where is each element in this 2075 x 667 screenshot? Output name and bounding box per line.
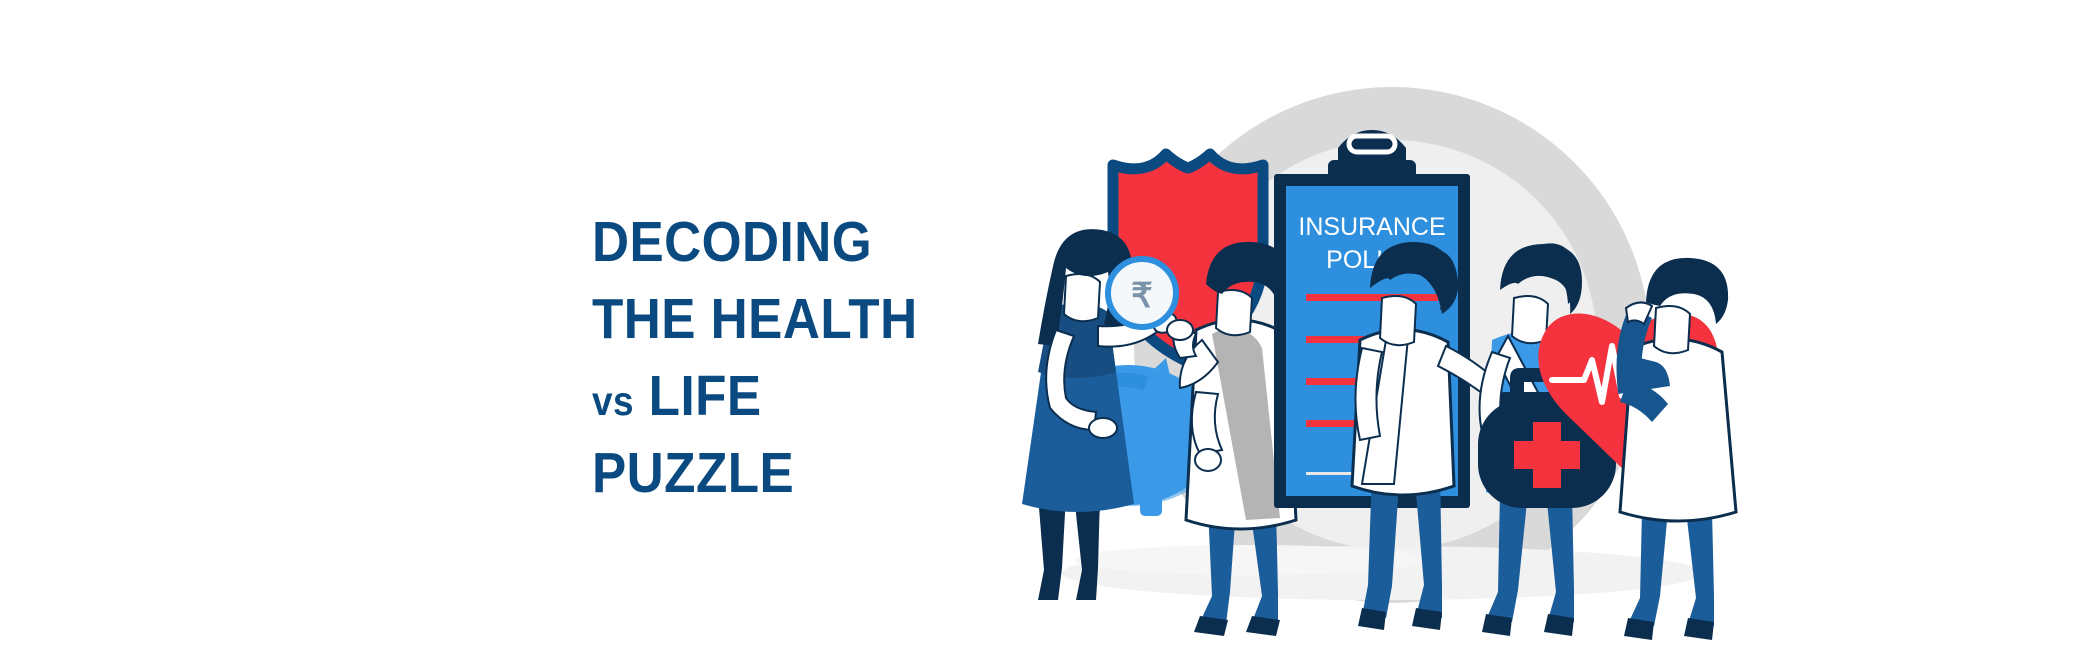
title-line-3: vs LIFE xyxy=(592,368,970,425)
title-line-1: DECODING xyxy=(592,214,970,271)
title-life-word: LIFE xyxy=(649,364,762,428)
hero-illustration: ₹ xyxy=(1000,40,1740,640)
rupee-coin-badge: ₹ xyxy=(1108,259,1176,327)
banner-canvas: DECODING THE HEALTH vs LIFE PUZZLE xyxy=(0,0,2075,667)
clipboard-title-line1: INSURANCE xyxy=(1298,213,1445,241)
title-line-2: THE HEALTH xyxy=(592,291,970,348)
svg-text:₹: ₹ xyxy=(1131,277,1153,315)
title-line-4: PUZZLE xyxy=(592,445,970,502)
page-title: DECODING THE HEALTH vs LIFE PUZZLE xyxy=(592,214,1012,502)
title-vs-word: vs xyxy=(592,378,634,424)
